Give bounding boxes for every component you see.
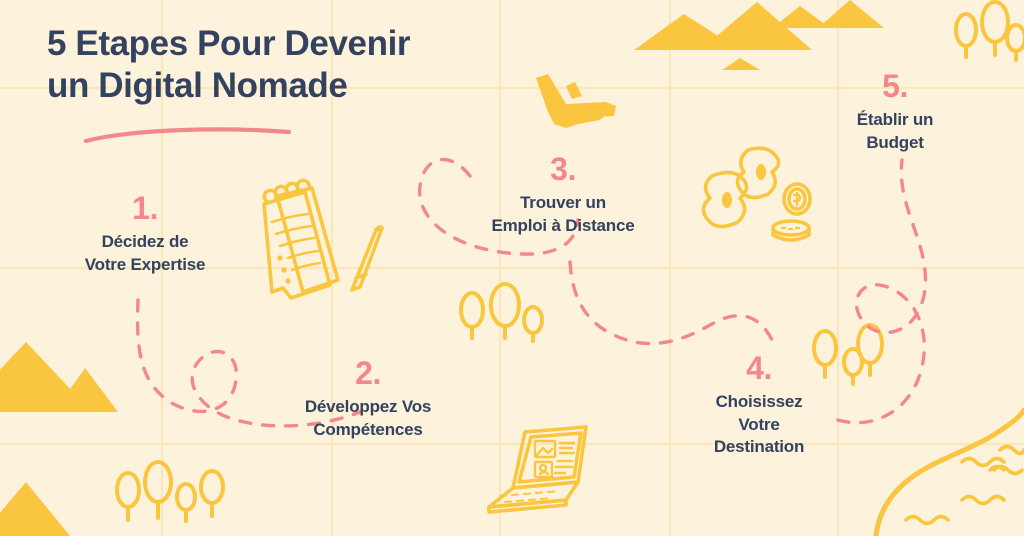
step-5-label: Établir un Budget [775, 109, 1015, 154]
step-5-number: 5. [775, 70, 1015, 102]
mountains-top-illustration [634, 0, 884, 70]
step-1: 1. Décidez de Votre Expertise [25, 192, 265, 276]
step-1-number: 1. [25, 192, 265, 224]
airplane-illustration [536, 74, 616, 128]
title-underline-stroke [83, 124, 293, 146]
step-4-label: Choisissez Votre Destination [639, 391, 879, 459]
mountains-bottom-left-illustration [0, 342, 118, 536]
step-4-number: 4. [639, 352, 879, 384]
step-3-label: Trouver un Emploi à Distance [443, 192, 683, 237]
step-4: 4. Choisissez Votre Destination [639, 352, 879, 459]
step-2-label: Développez Vos Compétences [248, 396, 488, 441]
step-3: 3. Trouver un Emploi à Distance [443, 153, 683, 237]
step-5: 5. Établir un Budget [775, 70, 1015, 154]
infographic-poster: 5 Etapes Pour Devenir un Digital Nomade … [0, 0, 1024, 536]
step-2: 2. Développez Vos Compétences [248, 357, 488, 441]
title-block: 5 Etapes Pour Devenir un Digital Nomade [47, 23, 477, 107]
step-3-number: 3. [443, 153, 683, 185]
step-1-label: Décidez de Votre Expertise [25, 231, 265, 276]
step-2-number: 2. [248, 357, 488, 389]
page-title: 5 Etapes Pour Devenir un Digital Nomade [47, 23, 477, 107]
